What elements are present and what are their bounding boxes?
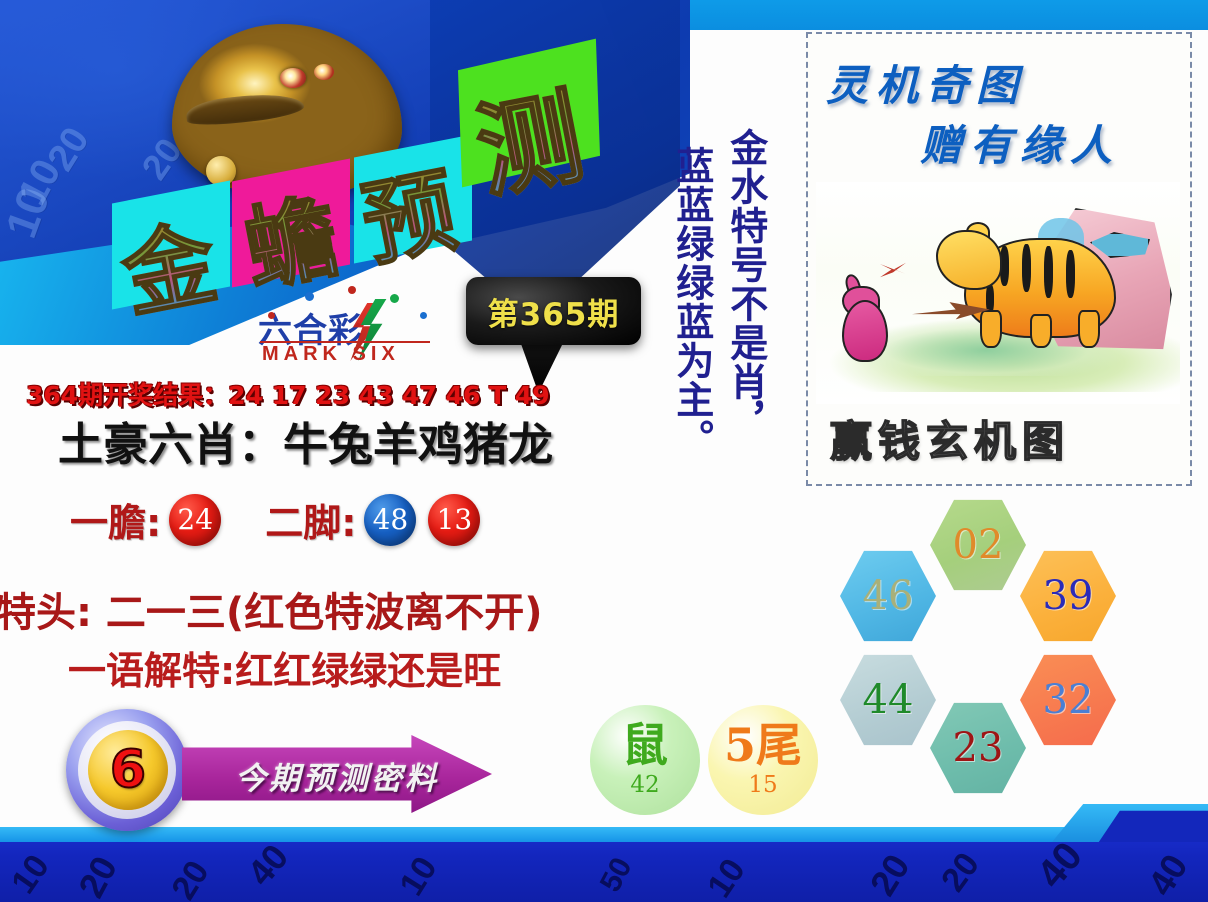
panel-footer: 赢钱玄机图 [808,406,1190,476]
panel-illustration [816,182,1180,404]
hex-label-02: 02 [953,522,1004,568]
hex-label-23: 23 [953,725,1004,771]
butterfly-icon [880,260,906,280]
draw-result-line: 364期开奖结果：24 17 23 43 47 46 T 49 [26,376,550,412]
poster-root: 10 20 10 20 10 20 20 40 10 50 10 20 20 4… [0,0,1208,902]
six-zodiac-line: 土豪六肖：牛兔羊鸡猪龙 [58,408,553,473]
confetti-dot-2 [348,286,356,294]
vertical-text-left: 蓝蓝绿绿蓝为主。 [672,146,711,506]
footer-cyan-line [0,827,1208,842]
bubble-zodiac-sub: 42 [630,772,659,798]
tiger-leg-1 [980,310,1002,348]
mystic-panel: 灵机奇图 赠有缘人 [806,32,1192,486]
jiao-label: 二脚: [265,492,356,547]
mark-six-logo: 六合彩 MARK SIX [258,303,443,365]
toad-mouth-icon [185,90,305,128]
tiger-stripe-3 [1044,246,1053,298]
tiger-stripe-4 [1066,250,1075,298]
tiger-leg-2 [1030,314,1052,348]
bubble-zodiac-main: 鼠 [622,722,668,768]
hex-label-46: 46 [863,573,914,619]
panel-footer-label: 赢钱玄机图 [830,408,1070,469]
tiger-head-icon [936,230,1002,290]
confetti-dot-4 [268,312,275,319]
tiger-leg-3 [1078,310,1100,348]
dan-label: 一膽: [70,492,161,547]
issue-badge-label: 第365期 [488,289,620,334]
bubble-tail-sub: 15 [748,772,777,798]
panel-title-line1: 灵机奇图 [826,52,1026,113]
panel-title-line2: 赠有缘人 [920,112,1120,173]
issue-badge[interactable]: 第365期 [466,277,641,345]
jiao-ball-1[interactable]: 48 [364,494,416,546]
mark-six-en: MARK SIX [262,343,400,366]
rabbit-body-icon [842,300,888,362]
confetti-dot-1 [305,292,314,301]
confetti-dot-3 [390,294,399,303]
bubble-tail-main: 5尾 [724,722,802,768]
lucky-ball-number: 6 [110,740,146,800]
tiger-stripe-2 [1022,244,1031,292]
jiao-ball-2[interactable]: 13 [428,494,480,546]
toad-eye-left-icon [280,68,306,88]
tetou-line: 特头: 二一三(红色特波离不开) [0,580,542,638]
hex-label-32: 32 [1043,677,1094,723]
jiete-line: 一语解特:红红绿绿还是旺 [68,640,501,695]
forecast-arrow-label: 今期预测密料 [212,752,462,798]
picks-row: 一膽: 24 二脚: 48 13 [70,492,480,547]
toad-eye-right-icon [314,64,334,80]
panel-title: 灵机奇图 赠有缘人 [808,44,1190,184]
top-cyan-bar [600,0,1208,30]
title-logo: 金 蟾 预 测 [110,18,650,318]
bubble-zodiac[interactable]: 鼠 42 [590,705,700,815]
hex-label-39: 39 [1043,573,1094,619]
vertical-text-right: 金水特号不是肖， [726,128,765,498]
lucky-ball-core: 6 [88,730,168,810]
bubble-tail[interactable]: 5尾 15 [708,705,818,815]
hex-label-44: 44 [863,677,914,723]
lucky-ball-6[interactable]: 6 [66,709,188,831]
dan-ball[interactable]: 24 [169,494,221,546]
confetti-dot-5 [420,312,427,319]
